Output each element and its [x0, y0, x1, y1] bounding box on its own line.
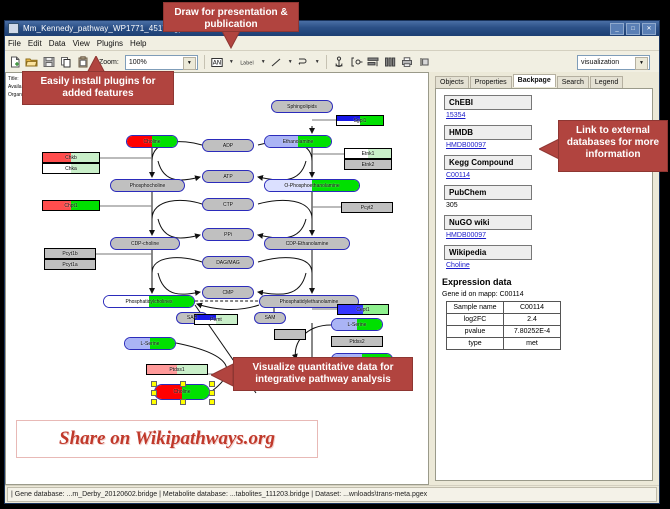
pathway-node-phosphatidylcholines[interactable]: Phosphatidylcholines — [103, 295, 195, 308]
line-icon[interactable] — [270, 56, 283, 69]
interaction-dropdown-icon[interactable]: ▼ — [315, 59, 320, 65]
annotation-share: Share on Wikipathways.org — [16, 420, 318, 458]
pathway-node-pemt[interactable]: Pemt — [194, 314, 238, 325]
expression-data-heading: Expression data — [442, 277, 652, 287]
annotation-plugins: Easily install plugins for added feature… — [22, 71, 174, 105]
database-value-pubchem: 305 — [446, 202, 652, 209]
chevron-down-icon[interactable]: ▼ — [183, 57, 196, 70]
node-label: Choline — [144, 139, 161, 145]
table-cell: Sample name — [447, 302, 504, 314]
pathway-node-l_serine_right[interactable]: L-Serine — [331, 318, 383, 331]
pathway-node-ppi[interactable]: PPi — [202, 228, 254, 241]
node-label: Phosphocholine — [130, 183, 166, 189]
line-dropdown-icon[interactable]: ▼ — [288, 59, 293, 65]
pathway-node-ptdss2[interactable]: Ptdss2 — [331, 336, 383, 347]
node-label: Pcyt2 — [361, 205, 374, 211]
database-header-pubchem: PubChem — [444, 185, 532, 200]
node-label: Sgpl1 — [354, 118, 367, 124]
table-cell: met — [504, 338, 561, 350]
svg-text:AN: AN — [213, 59, 222, 66]
visualization-value: visualization — [581, 59, 619, 66]
maximize-button[interactable]: □ — [626, 23, 640, 35]
node-label: Cept1 — [356, 307, 369, 313]
database-header-hmdb: HMDB — [444, 125, 532, 140]
pathway-node-pcyt1a[interactable]: Pcyt1a — [44, 259, 96, 270]
pathway-node-cmp[interactable]: CMP — [202, 286, 254, 299]
node-label: SAH — [187, 315, 197, 321]
node-label: PPi — [224, 232, 232, 238]
node-label: L-Serine — [348, 322, 367, 328]
annotation-share-text: Share on Wikipathways.org — [59, 428, 275, 450]
pathway-node-sphingolipids[interactable]: Sphingolipids — [271, 100, 333, 113]
annotation-link: Link to external databases for more info… — [558, 120, 668, 172]
menu-item-view[interactable]: View — [73, 39, 90, 48]
database-header-kegg-compound: Kegg Compound — [444, 155, 532, 170]
pathway-node-sam[interactable]: SAM — [254, 312, 286, 324]
node-label: SAM — [265, 315, 276, 321]
new-file-icon[interactable] — [8, 56, 21, 69]
node-label: Pcyt1b — [62, 251, 77, 257]
pathway-node-phosphocholine[interactable]: Phosphocholine — [110, 179, 185, 192]
table-cell: C00114 — [504, 302, 561, 314]
tab-properties[interactable]: Properties — [470, 76, 512, 88]
node-label: Sphingolipids — [287, 104, 317, 110]
node-label: Phosphatidylethanolamine — [280, 299, 339, 305]
node-label: DAG/MAG — [216, 260, 240, 266]
anchor-icon[interactable] — [333, 56, 346, 69]
selection-handle[interactable] — [151, 390, 157, 396]
table-row: typemet — [447, 338, 561, 350]
app-icon — [8, 23, 19, 34]
node-label: Pcyt1a — [62, 262, 77, 268]
node-label: Ptdss1 — [169, 367, 184, 373]
annotation-draw: Draw for presentation & publication — [163, 2, 299, 32]
save-icon[interactable] — [42, 56, 55, 69]
bracket-icon[interactable] — [350, 56, 363, 69]
node-label: Phosphatidylcholines — [126, 299, 173, 305]
label-icon[interactable]: Label — [238, 56, 256, 69]
visualization-combobox[interactable]: visualization ▼ — [577, 55, 650, 70]
pathway-node-pcyt2[interactable]: Pcyt2 — [341, 202, 393, 213]
gene-id-label: Gene id on mapp: C00114 — [442, 291, 652, 298]
panel-tabs: Objects Properties Backpage Search Legen… — [435, 75, 623, 88]
pathway-node-choline_top[interactable]: Choline — [126, 135, 178, 148]
node-label: O-Phosphoethanolamine — [284, 183, 339, 189]
pathway-node-blank_gene[interactable] — [274, 329, 306, 340]
stack-icon[interactable] — [384, 56, 397, 69]
node-label: Pemt — [210, 317, 222, 323]
selection-handle[interactable] — [180, 399, 186, 405]
node-label: CMP — [222, 290, 233, 296]
database-link-nugo-wiki[interactable]: HMDB00097 — [446, 232, 652, 239]
status-text: | Gene database: ...m_Derby_20120602.bri… — [7, 487, 657, 502]
chevron-down-icon[interactable]: ▼ — [635, 57, 648, 70]
pathway-node-cdp_choline[interactable]: CDP-choline — [110, 237, 180, 250]
pathway-node-etnk2[interactable]: Etnk2 — [344, 159, 392, 170]
node-label: Choline — [174, 389, 191, 395]
pathway-node-chkb[interactable]: Chkb — [42, 152, 100, 163]
tab-search[interactable]: Search — [557, 76, 589, 88]
database-link-chebi[interactable]: 15354 — [446, 112, 652, 119]
node-label: ATP — [223, 174, 232, 180]
pathway-node-etnk1[interactable]: Etnk1 — [344, 148, 392, 159]
toolbar-separator — [204, 55, 205, 69]
toolbar-separator-2 — [326, 55, 327, 69]
window-controls: _ □ ✕ — [610, 23, 656, 35]
zoom-combobox[interactable]: 100% ▼ — [125, 55, 198, 70]
interaction-icon[interactable] — [297, 56, 310, 69]
pathway-node-o_phosphoethanolamine[interactable]: O-Phosphoethanolamine — [264, 179, 360, 192]
node-label: Chpt1 — [64, 203, 77, 209]
pathway-node-pcyt1b[interactable]: Pcyt1b — [44, 248, 96, 259]
table-cell: 2.4 — [504, 314, 561, 326]
menu-item-edit[interactable]: Edit — [28, 39, 42, 48]
minimize-button[interactable]: _ — [610, 23, 624, 35]
table-cell: log2FC — [447, 314, 504, 326]
selection-handle[interactable] — [209, 390, 215, 396]
table-row: Sample nameC00114 — [447, 302, 561, 314]
menu-item-plugins[interactable]: Plugins — [97, 39, 123, 48]
pathway-node-chpt1[interactable]: Chpt1 — [42, 200, 100, 211]
annotation-visualize: Visualize quantitative data for integrat… — [233, 357, 413, 391]
pathway-node-dagmag[interactable]: DAG/MAG — [202, 256, 254, 269]
svg-text:Label: Label — [240, 61, 254, 67]
node-label: Chkb — [65, 155, 77, 161]
screenshot-root: Mm_Kennedy_pathway_WP1771_45176.gpml _ □… — [0, 0, 670, 509]
pathway-node-cept1[interactable]: Cept1 — [337, 304, 389, 315]
node-label: CTP — [223, 202, 233, 208]
order-icon[interactable] — [418, 56, 431, 69]
tab-backpage[interactable]: Backpage — [513, 74, 556, 87]
table-row: log2FC2.4 — [447, 314, 561, 326]
pathway-node-chka[interactable]: Chka — [42, 163, 100, 174]
menu-item-data[interactable]: Data — [49, 39, 66, 48]
pathway-node-atp[interactable]: ATP — [202, 170, 254, 183]
selection-handle[interactable] — [151, 381, 157, 387]
close-button[interactable]: ✕ — [642, 23, 656, 35]
database-link-wikipedia[interactable]: Choline — [446, 262, 652, 269]
pathway-node-l_serine_left[interactable]: L-Serine — [124, 337, 176, 350]
align-icon[interactable] — [367, 56, 380, 69]
database-header-chebi: ChEBI — [444, 95, 532, 110]
node-label: Etnk2 — [362, 162, 375, 168]
selection-handle[interactable] — [209, 399, 215, 405]
selection-handle[interactable] — [180, 381, 186, 387]
pathway-node-ctp[interactable]: CTP — [202, 198, 254, 211]
label-dropdown-icon[interactable]: ▼ — [261, 59, 266, 65]
node-label: Etnk1 — [362, 151, 375, 157]
tab-objects[interactable]: Objects — [435, 76, 469, 88]
node-label: CDP-choline — [131, 241, 159, 247]
table-cell: 7.80252E-4 — [504, 326, 561, 338]
database-header-wikipedia: Wikipedia — [444, 245, 532, 260]
annotation-visualize-arrow — [211, 362, 235, 388]
open-folder-icon[interactable] — [25, 56, 38, 69]
node-label: L-Serine — [141, 341, 160, 347]
selection-handle[interactable] — [151, 399, 157, 405]
status-bar: | Gene database: ...m_Derby_20120602.bri… — [5, 485, 659, 503]
node-label: Chka — [65, 166, 77, 172]
table-cell: pvalue — [447, 326, 504, 338]
datanode-dropdown-icon[interactable]: ▼ — [229, 59, 234, 65]
node-label: Ethanolamine — [283, 139, 314, 145]
table-row: pvalue7.80252E-4 — [447, 326, 561, 338]
menu-bar: File Edit Data View Plugins Help — [5, 36, 659, 51]
print-icon[interactable] — [401, 56, 414, 69]
annotation-draw-arrow — [218, 31, 244, 49]
pathway-node-cdp_ethanolamine[interactable]: CDP-Ethanolamine — [264, 237, 350, 250]
datanode-icon[interactable]: AN — [211, 56, 224, 69]
node-label: Ptdss2 — [349, 339, 364, 345]
menu-item-help[interactable]: Help — [130, 39, 146, 48]
pathway-node-ptdss1[interactable]: Ptdss1 — [146, 364, 208, 375]
title-bar: Mm_Kennedy_pathway_WP1771_45176.gpml _ □… — [5, 21, 659, 36]
pathway-node-adp[interactable]: ADP — [202, 139, 254, 152]
expression-table: Sample nameC00114log2FC2.4pvalue7.80252E… — [446, 301, 561, 350]
tab-legend[interactable]: Legend — [590, 76, 623, 88]
zoom-value: 100% — [129, 59, 147, 66]
table-cell: type — [447, 338, 504, 350]
menu-item-file[interactable]: File — [8, 39, 21, 48]
copy-icon[interactable] — [59, 56, 72, 69]
pathway-node-sgpl1[interactable]: Sgpl1 — [336, 115, 384, 126]
node-label: CDP-Ethanolamine — [286, 241, 329, 247]
database-link-kegg-compound[interactable]: C00114 — [446, 172, 652, 179]
database-header-nugo-wiki: NuGO wiki — [444, 215, 532, 230]
node-label: ADP — [223, 143, 233, 149]
pathway-node-ethanolamine_top[interactable]: Ethanolamine — [264, 135, 332, 148]
